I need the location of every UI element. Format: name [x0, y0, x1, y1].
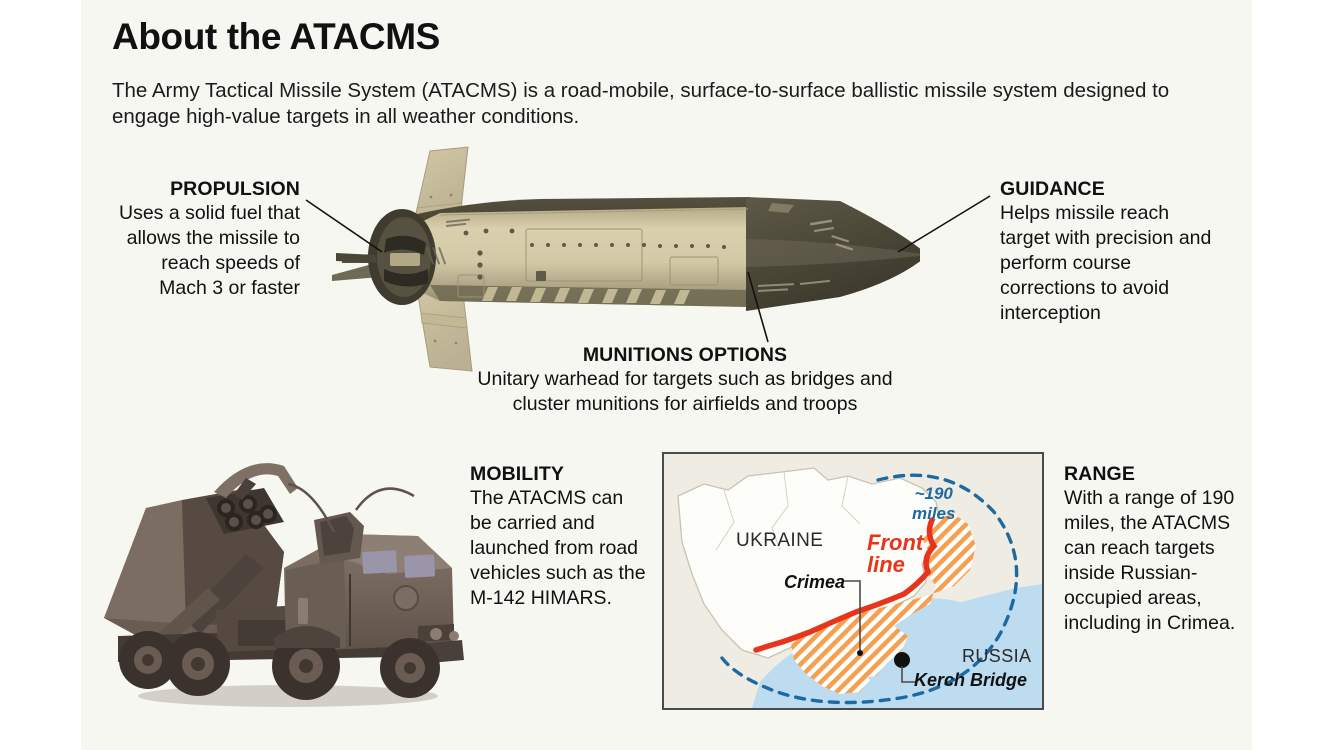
map-kerch-dot: [894, 652, 910, 668]
himars-vehicle-illustration: [88, 448, 468, 710]
callout-mobility-body: The ATACMS can be carried and launched f…: [470, 486, 650, 611]
callout-munitions-body: Unitary warhead for targets such as brid…: [450, 367, 920, 417]
callout-propulsion-body: Uses a solid fuel that allows the missil…: [110, 201, 300, 301]
callout-munitions: MUNITIONS OPTIONS Unitary warhead for ta…: [450, 344, 920, 417]
callout-range: RANGE With a range of 190 miles, the ATA…: [1064, 463, 1249, 636]
callout-mobility-heading: MOBILITY: [470, 463, 650, 486]
callout-guidance-heading: GUIDANCE: [1000, 178, 1215, 201]
map-svg: [664, 454, 1042, 708]
missile-nose: [746, 197, 920, 311]
map-crimea-dot: [857, 650, 863, 656]
callout-munitions-heading: MUNITIONS OPTIONS: [450, 344, 920, 367]
page-subtitle: The Army Tactical Missile System (ATACMS…: [112, 78, 1172, 130]
callout-propulsion: PROPULSION Uses a solid fuel that allows…: [110, 178, 300, 301]
callout-propulsion-heading: PROPULSION: [110, 178, 300, 201]
callout-guidance-body: Helps missile reach target with precisio…: [1000, 201, 1215, 326]
callout-mobility: MOBILITY The ATACMS can be carried and l…: [470, 463, 650, 611]
callout-range-heading: RANGE: [1064, 463, 1249, 486]
callout-range-body: With a range of 190 miles, the ATACMS ca…: [1064, 486, 1249, 636]
missile-rear-cap: [336, 209, 436, 305]
callout-guidance: GUIDANCE Helps missile reach target with…: [1000, 178, 1215, 326]
page-title: About the ATACMS: [112, 16, 440, 58]
range-map: UKRAINE RUSSIA Crimea Kerch Bridge Front…: [662, 452, 1044, 710]
infographic-root: About the ATACMS The Army Tactical Missi…: [0, 0, 1333, 750]
